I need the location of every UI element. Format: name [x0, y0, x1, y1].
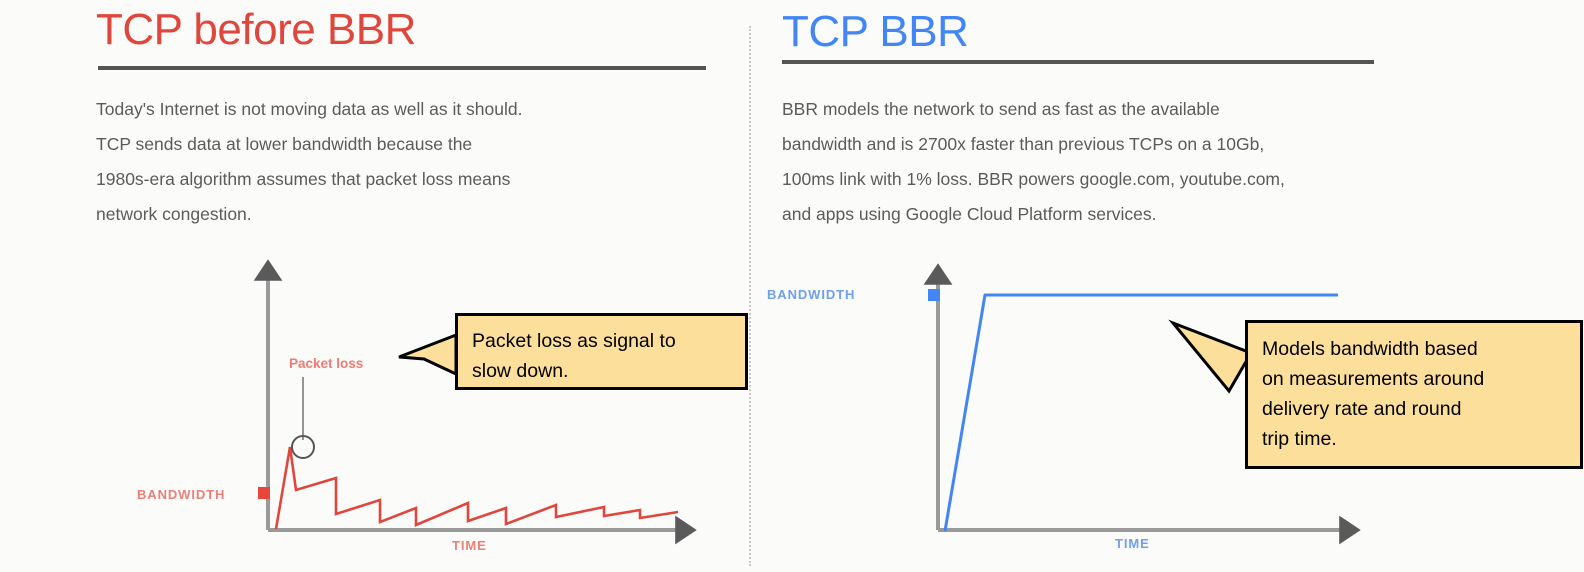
panel-tcp-before-bbr: TCP before BBR Today's Internet is not m… — [0, 0, 750, 572]
page-title-left: TCP before BBR — [96, 8, 416, 52]
body-text-right: BBR models the network to send as fast a… — [782, 92, 1285, 232]
callout-tail-left — [398, 330, 460, 376]
body-text-left: Today's Internet is not moving data as w… — [96, 92, 523, 232]
title-rule-right — [782, 60, 1374, 64]
y-axis-label-bandwidth-left: BANDWIDTH — [137, 487, 225, 502]
body-line: 1980s-era algorithm assumes that packet … — [96, 162, 523, 197]
bandwidth-marker-left — [258, 487, 270, 499]
page-title-right: TCP BBR — [782, 10, 968, 54]
sawtooth-curve — [276, 447, 678, 529]
packet-loss-circle-marker — [292, 436, 314, 458]
y-axis-label-bandwidth-right: BANDWIDTH — [767, 287, 855, 302]
chart-tcp-before-bbr — [0, 0, 750, 572]
callout-line: trip time. — [1262, 424, 1580, 454]
x-axis-label-time-left: TIME — [452, 538, 487, 553]
body-line: network congestion. — [96, 197, 523, 232]
callout-packet-loss: Packet loss as signal to slow down. — [455, 313, 748, 390]
body-line: bandwidth and is 2700x faster than previ… — [782, 127, 1285, 162]
callout-tail-right — [1167, 5, 1257, 485]
panel-divider — [749, 26, 751, 566]
callout-line: Packet loss as signal to — [472, 326, 745, 356]
body-line: 100ms link with 1% loss. BBR powers goog… — [782, 162, 1285, 197]
callout-line: on measurements around — [1262, 364, 1580, 394]
body-line: Today's Internet is not moving data as w… — [96, 92, 523, 127]
callout-line: delivery rate and round — [1262, 394, 1580, 424]
callout-models-bandwidth: Models bandwidth based on measurements a… — [1245, 320, 1583, 469]
chart-tcp-bbr — [752, 0, 1584, 572]
body-line: and apps using Google Cloud Platform ser… — [782, 197, 1285, 232]
body-line: BBR models the network to send as fast a… — [782, 92, 1285, 127]
x-axis-label-time-right: TIME — [1115, 536, 1150, 551]
packet-loss-annotation-label: Packet loss — [289, 356, 363, 371]
body-line: TCP sends data at lower bandwidth becaus… — [96, 127, 523, 162]
panel-tcp-bbr: TCP BBR BBR models the network to send a… — [752, 0, 1584, 572]
bandwidth-marker-right — [928, 289, 940, 301]
callout-line: Models bandwidth based — [1262, 334, 1580, 364]
title-rule-left — [98, 66, 706, 70]
callout-line: slow down. — [472, 356, 745, 386]
